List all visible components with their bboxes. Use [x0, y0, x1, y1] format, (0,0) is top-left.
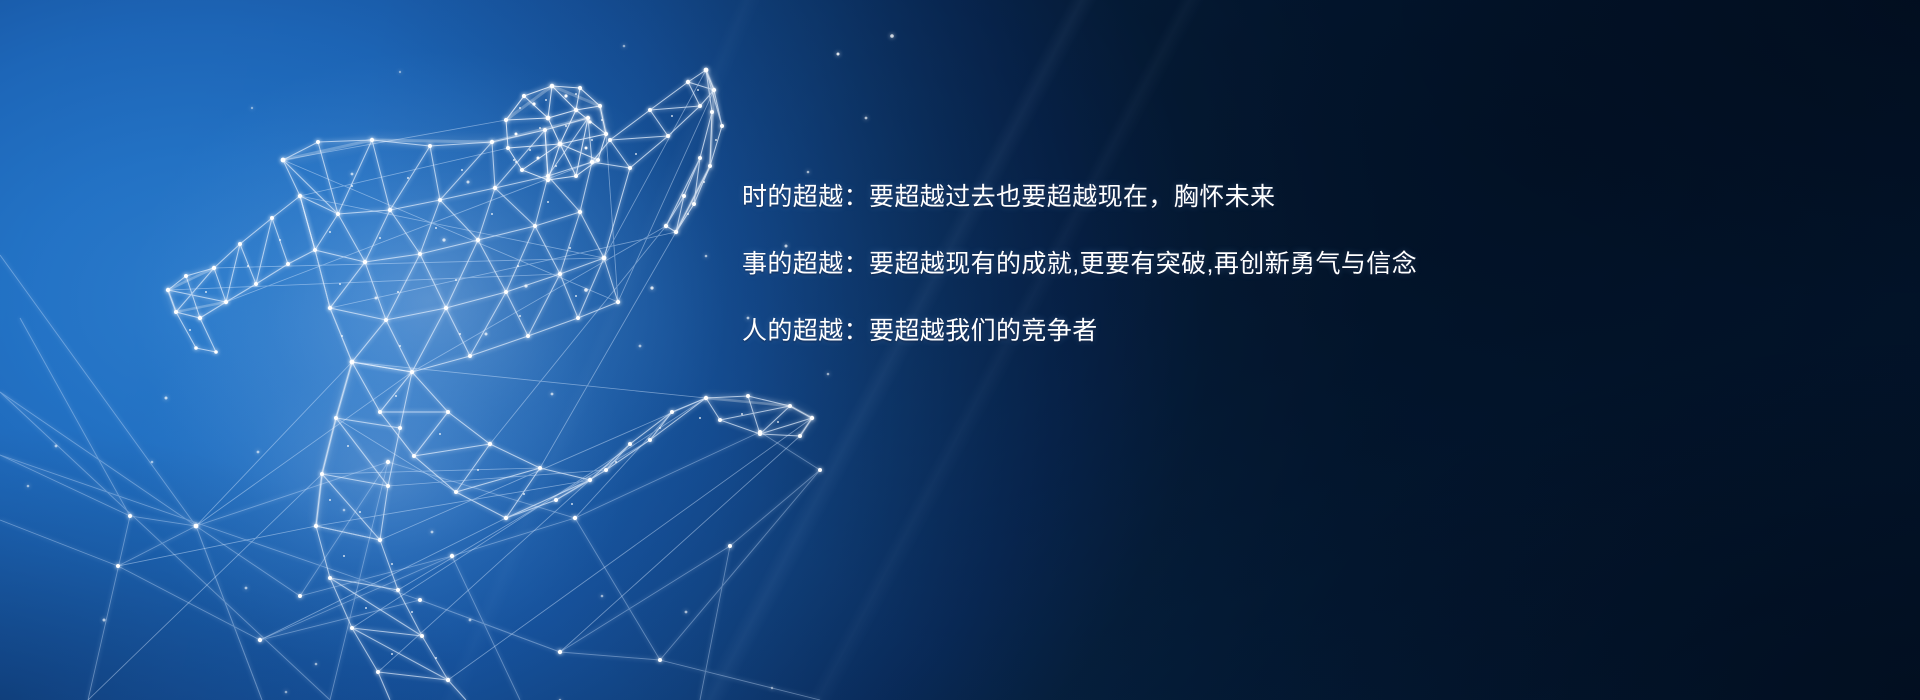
- hero-line-matter: 事的超越：要超越现有的成就,更要有突破,再创新勇气与信念: [742, 249, 1502, 279]
- hero-banner: 时的超越：要超越过去也要超越现在，胸怀未来 事的超越：要超越现有的成就,更要有突…: [0, 0, 1920, 700]
- hero-text-block: 时的超越：要超越过去也要超越现在，胸怀未来 事的超越：要超越现有的成就,更要有突…: [742, 182, 1502, 346]
- background-light-streaks: [0, 0, 1920, 700]
- hero-line-time: 时的超越：要超越过去也要超越现在，胸怀未来: [742, 182, 1502, 212]
- hero-line-people: 人的超越：要超越我们的竞争者: [742, 316, 1502, 346]
